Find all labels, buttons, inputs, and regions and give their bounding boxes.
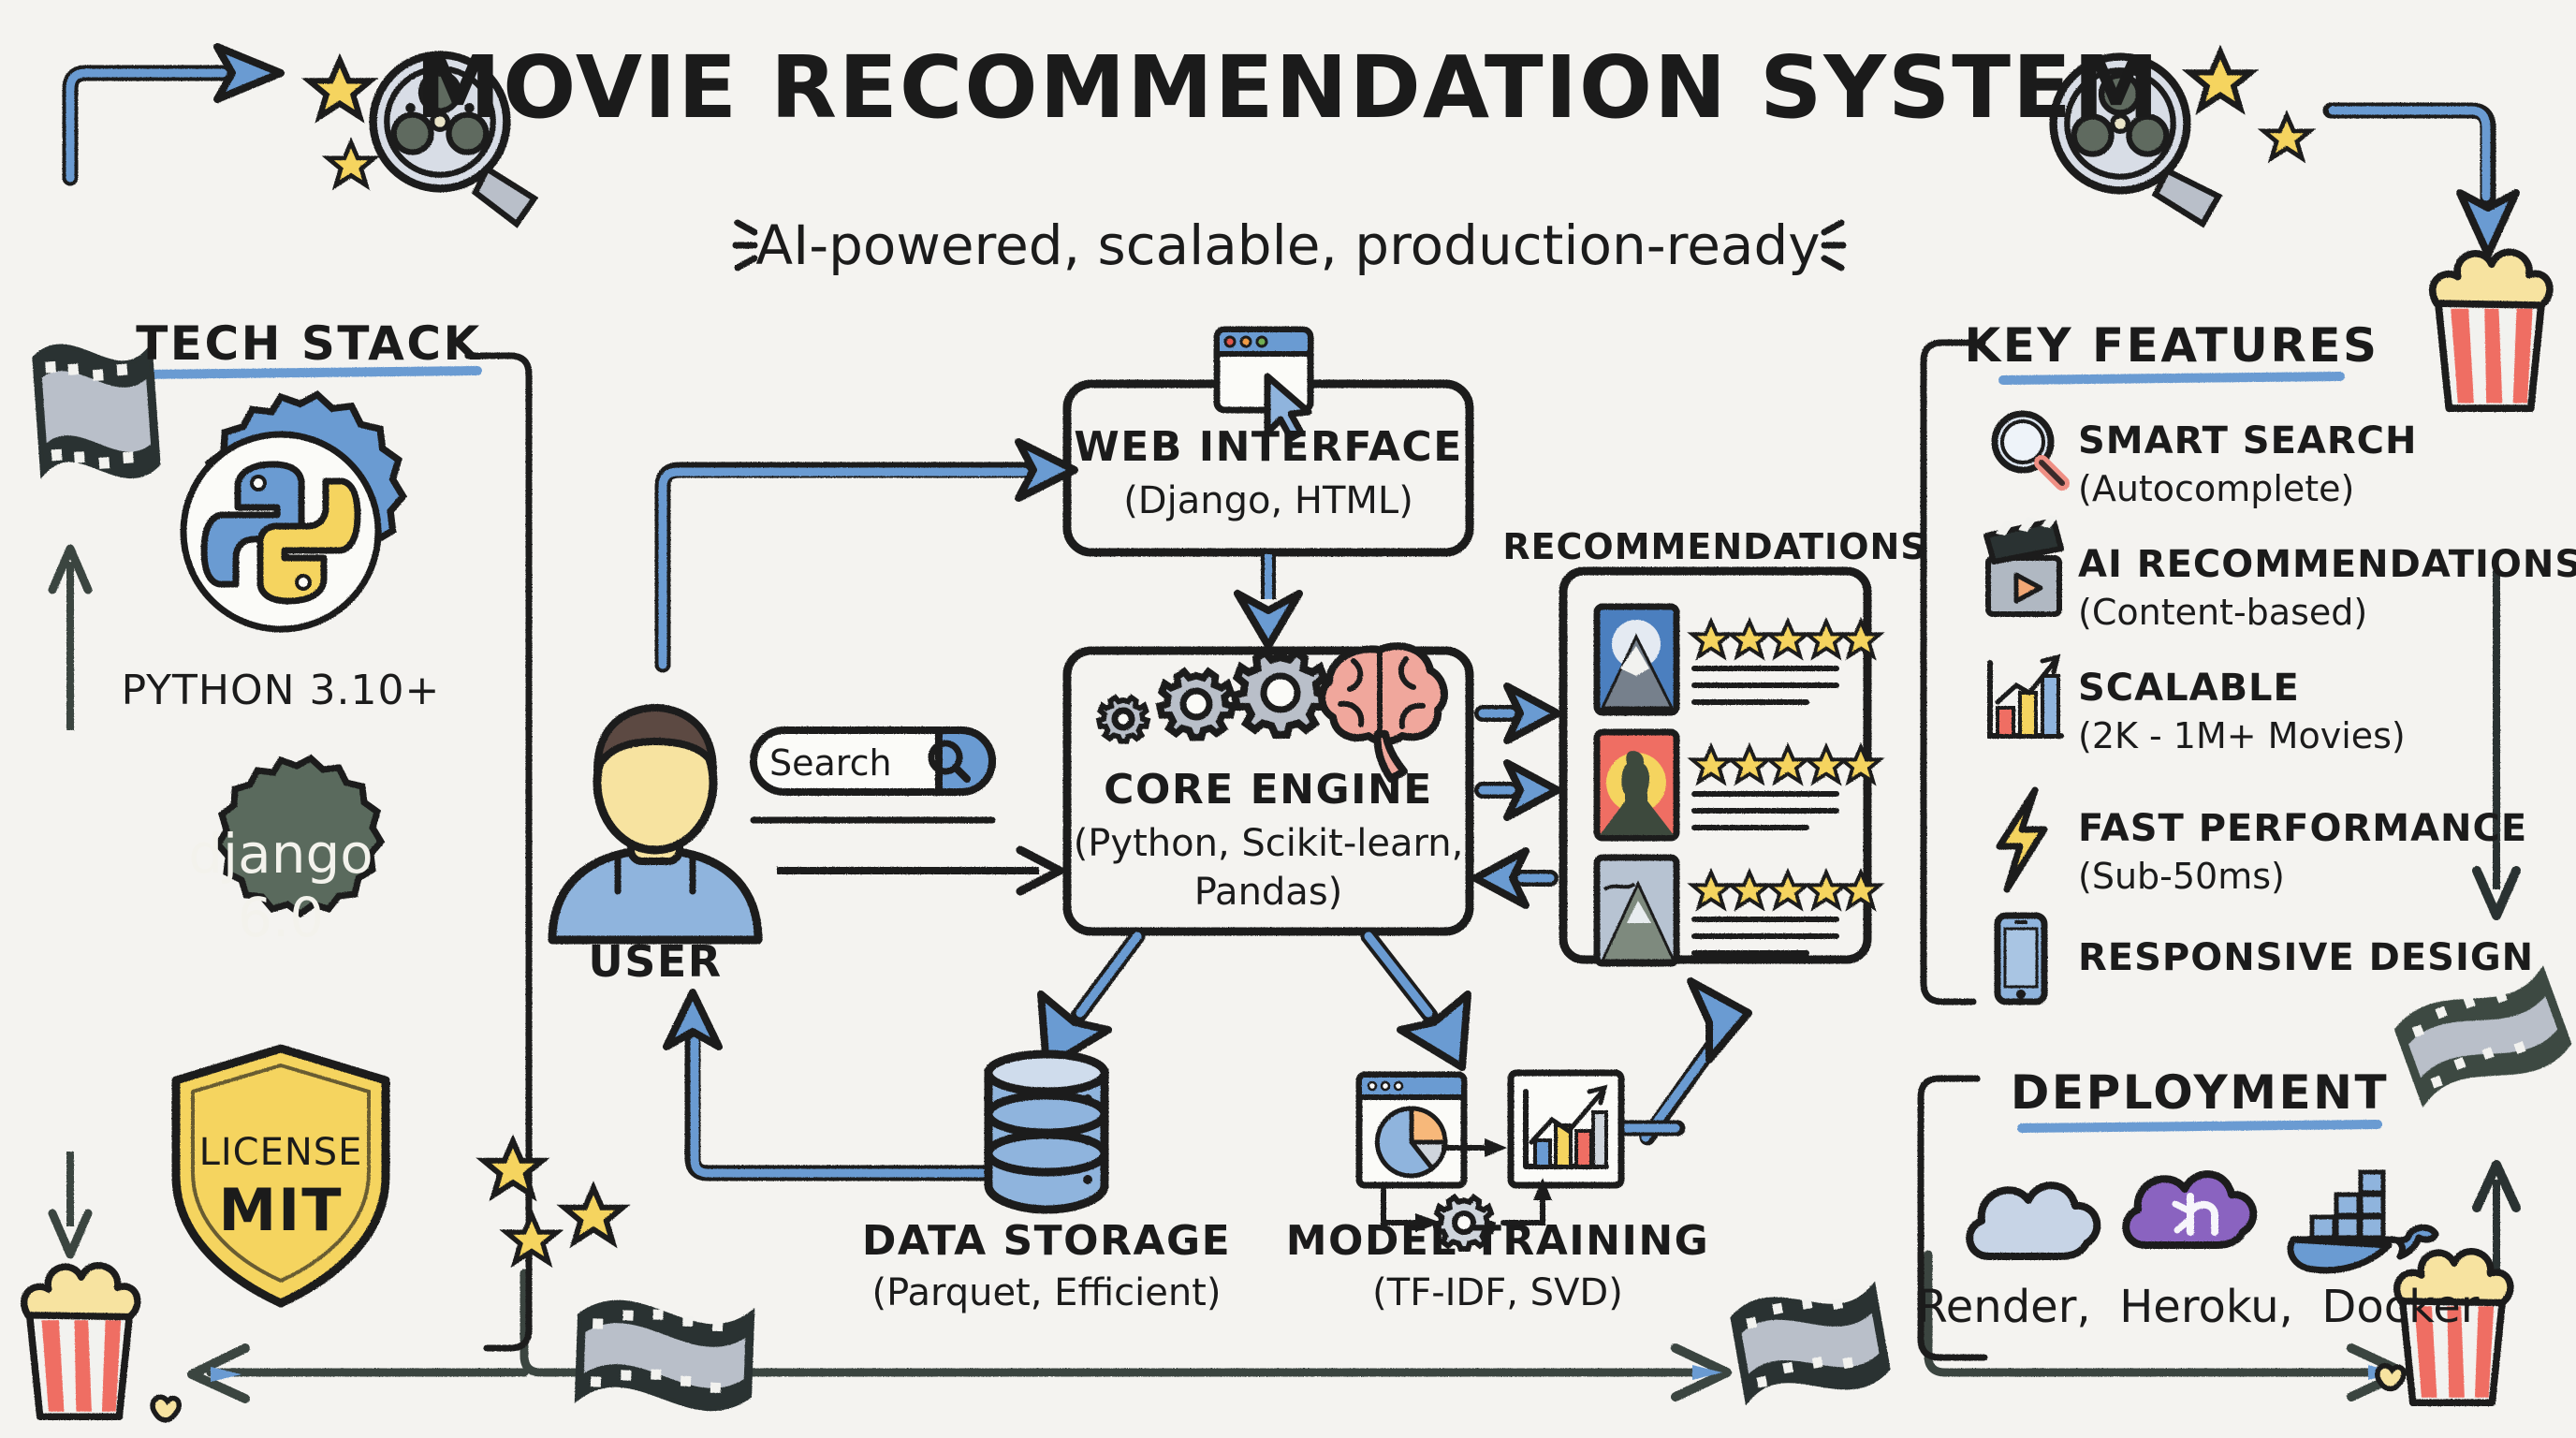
- flow-arrow-recs-to-core: [1475, 851, 1550, 905]
- python-logo-icon: [183, 395, 403, 629]
- bar-chart-icon: [1990, 657, 2061, 736]
- recommendation-card-2: [1597, 732, 1880, 838]
- bar-chart-trend-icon: [1511, 1073, 1621, 1185]
- flow-arrow-core-to-storage: [1041, 936, 1137, 1067]
- web-interface-title: WEB INTERFACE: [1074, 423, 1463, 471]
- gear-large-icon: [1235, 652, 1326, 734]
- user-label: USER: [588, 936, 722, 987]
- license-shield-line2: MIT: [218, 1176, 343, 1244]
- flow-arrow-core-to-training: [1368, 936, 1468, 1067]
- star-icon-header-1: [310, 61, 371, 117]
- flow-arrow-outer-topleft: [70, 47, 281, 178]
- flow-arrow-bottom-left: [192, 1348, 524, 1399]
- recommendation-card-3: [1597, 858, 1880, 963]
- star-icon-header-3: [2190, 52, 2251, 109]
- lightning-icon: [1999, 790, 2044, 889]
- flow-arrow-core-to-recs-1: [1483, 686, 1558, 741]
- flow-arrow-left-up: [52, 549, 88, 730]
- django-badge-line1: django: [188, 822, 373, 886]
- pie-chart-window-icon: [1359, 1075, 1464, 1185]
- star-icon-header-2: [328, 142, 373, 185]
- film-strip-icon-bottom-right: [1733, 1284, 1888, 1404]
- model-training-subtitle: (TF-IDF, SVD): [1372, 1271, 1623, 1314]
- key-features-underline: [2003, 376, 2340, 380]
- data-storage-title: DATA STORAGE: [862, 1217, 1231, 1265]
- brain-icon: [1322, 646, 1444, 779]
- tech-stack-heading: TECH STACK: [136, 316, 482, 371]
- recommendations-heading: RECOMMENDATIONS: [1502, 526, 1926, 567]
- deployment-heading: DEPLOYMENT: [2011, 1065, 2389, 1120]
- key-features-heading: KEY FEATURES: [1964, 318, 2378, 373]
- key-feature-1-title: SMART SEARCH: [2078, 419, 2418, 462]
- page-title: MOVIE RECOMMENDATION SYSTEM: [416, 37, 2161, 138]
- core-engine-subtitle-2: Pandas): [1194, 871, 1343, 914]
- flow-arrow-left-down: [52, 1152, 88, 1255]
- deployment-underline: [2022, 1124, 2378, 1128]
- key-feature-2-subtitle: (Content-based): [2078, 592, 2367, 633]
- film-strip-icon-right: [2395, 969, 2570, 1107]
- flow-arrow-user-to-web: [663, 442, 1075, 665]
- key-features-bracket: [1924, 343, 1983, 1002]
- key-feature-3-subtitle: (2K - 1M+ Movies): [2078, 715, 2406, 756]
- django-badge-line2: 6.0: [238, 886, 324, 949]
- browser-window-cursor-icon: [1217, 330, 1310, 438]
- user-avatar-icon: [552, 708, 758, 940]
- star-icon-left-3: [564, 1188, 622, 1242]
- gear-medium-icon: [1160, 671, 1233, 737]
- cloud-icon: [1969, 1185, 2097, 1256]
- search-input[interactable]: Search: [769, 742, 892, 784]
- popcorn-icon-topright: [2433, 252, 2550, 408]
- sparkle-icon-left: [736, 223, 754, 268]
- data-storage-subtitle: (Parquet, Efficient): [872, 1271, 1222, 1314]
- docker-whale-icon: [2291, 1172, 2436, 1270]
- flow-arrow-training-to-recs: [1646, 981, 1749, 1137]
- clapperboard-icon: [1986, 515, 2061, 614]
- film-strip-icon-bottom: [578, 1303, 751, 1408]
- key-feature-5-title: RESPONSIVE DESIGN: [2078, 936, 2534, 979]
- page-subtitle: AI-powered, scalable, production-ready: [755, 213, 1820, 277]
- star-rating-3: [1692, 873, 1881, 907]
- flow-arrow-right-down: [2477, 571, 2516, 916]
- web-interface-subtitle: (Django, HTML): [1123, 479, 1413, 522]
- model-training-title: MODEL TRAINING: [1286, 1217, 1710, 1265]
- flow-arrow-storage-to-user: [666, 992, 985, 1173]
- core-engine-subtitle-1: (Python, Scikit-learn,: [1074, 822, 1464, 865]
- flow-arrow-web-to-core: [1237, 554, 1299, 646]
- gear-small-icon: [1099, 697, 1148, 741]
- key-feature-2-title: AI RECOMMENDATIONS: [2078, 543, 2576, 586]
- key-feature-1-subtitle: (Autocomplete): [2078, 468, 2354, 509]
- license-shield-line1: LICENSE: [199, 1131, 363, 1174]
- database-cylinder-icon: [988, 1054, 1105, 1210]
- key-feature-4-title: FAST PERFORMANCE: [2078, 807, 2527, 850]
- star-icon-header-4: [2263, 115, 2309, 158]
- tech-stack-bracket: [468, 356, 529, 1348]
- flow-arrow-user-to-core: [777, 850, 1060, 891]
- smartphone-icon: [1998, 916, 2044, 1002]
- core-engine-title: CORE ENGINE: [1104, 766, 1433, 814]
- popcorn-icon-bottomleft: [24, 1266, 180, 1420]
- infographic-canvas: MOVIE RECOMMENDATION SYSTEM AI-powered, …: [0, 0, 2576, 1438]
- sparkle-icon-right: [1824, 223, 1843, 268]
- star-rating-1: [1692, 622, 1881, 656]
- magnifier-icon: [1995, 414, 2062, 483]
- flow-arrow-outer-topright: [2331, 110, 2516, 255]
- deployment-label: Render, Heroku, Docker: [1917, 1281, 2480, 1333]
- key-feature-4-subtitle: (Sub-50ms): [2078, 856, 2285, 897]
- star-rating-2: [1692, 747, 1881, 782]
- key-feature-3-title: SCALABLE: [2078, 667, 2300, 710]
- recommendation-card-1: [1597, 607, 1880, 712]
- tech-stack-underline: [140, 371, 477, 374]
- star-icon-left-1: [484, 1141, 542, 1196]
- tech-stack-item-python-label: PYTHON 3.10+: [122, 667, 441, 714]
- heroku-cloud-icon: [2126, 1174, 2253, 1245]
- flow-arrow-core-to-recs-2: [1483, 763, 1558, 817]
